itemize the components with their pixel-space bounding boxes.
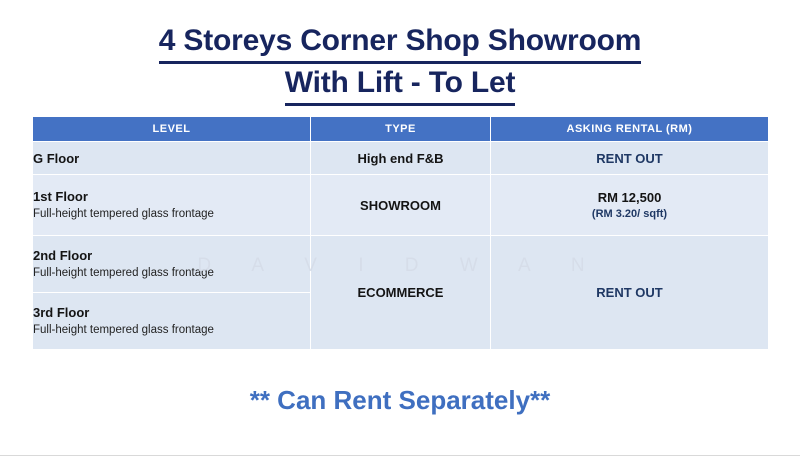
listing-table: LEVEL TYPE ASKING RENTAL (RM) G Floor Hi… (32, 116, 769, 350)
column-header-rental: ASKING RENTAL (RM) (491, 117, 769, 142)
title-line-2: With Lift - To Let (0, 64, 800, 106)
cell-type-g: High end F&B (311, 142, 491, 175)
cell-rental-g: RENT OUT (491, 142, 769, 175)
type-label: High end F&B (311, 151, 490, 166)
cell-level-3rd: 3rd Floor Full-height tempered glass fro… (33, 293, 311, 350)
type-label: SHOWROOM (311, 198, 490, 213)
title-line-2-text: With Lift - To Let (285, 64, 516, 106)
cell-rental-1st: RM 12,500 (RM 3.20/ sqft) (491, 175, 769, 236)
cell-level-1st: 1st Floor Full-height tempered glass fro… (33, 175, 311, 236)
page-title: 4 Storeys Corner Shop Showroom With Lift… (0, 22, 800, 106)
floor-label: 3rd Floor (33, 304, 310, 321)
table-row: 2nd Floor Full-height tempered glass fro… (33, 236, 769, 293)
title-line-1: 4 Storeys Corner Shop Showroom (0, 22, 800, 64)
floor-label: 2nd Floor (33, 247, 310, 264)
table-row: G Floor High end F&B RENT OUT (33, 142, 769, 175)
cell-level-g: G Floor (33, 142, 311, 175)
column-header-level: LEVEL (33, 117, 311, 142)
cell-type-1st: SHOWROOM (311, 175, 491, 236)
column-header-type: TYPE (311, 117, 491, 142)
floor-description: Full-height tempered glass frontage (33, 322, 310, 338)
flyer-page: 4 Storeys Corner Shop Showroom With Lift… (0, 0, 800, 456)
status-badge: RENT OUT (491, 151, 768, 166)
table-body: G Floor High end F&B RENT OUT 1st Floor … (33, 142, 769, 350)
floor-description: Full-height tempered glass frontage (33, 206, 310, 222)
type-label: ECOMMERCE (311, 285, 490, 300)
cell-type-merged: ECOMMERCE (311, 236, 491, 350)
cell-rental-merged: RENT OUT (491, 236, 769, 350)
cell-level-2nd: 2nd Floor Full-height tempered glass fro… (33, 236, 311, 293)
floor-description: Full-height tempered glass frontage (33, 265, 310, 281)
rental-per-sqft: (RM 3.20/ sqft) (491, 207, 768, 222)
floor-label: G Floor (33, 150, 310, 167)
title-line-1-text: 4 Storeys Corner Shop Showroom (159, 22, 641, 64)
footer-note: ** Can Rent Separately** (0, 385, 800, 416)
rental-amount: RM 12,500 (491, 189, 768, 206)
table-header-row: LEVEL TYPE ASKING RENTAL (RM) (33, 117, 769, 142)
status-badge: RENT OUT (491, 285, 768, 300)
table-header: LEVEL TYPE ASKING RENTAL (RM) (33, 117, 769, 142)
table-row: 1st Floor Full-height tempered glass fro… (33, 175, 769, 236)
floor-label: 1st Floor (33, 188, 310, 205)
